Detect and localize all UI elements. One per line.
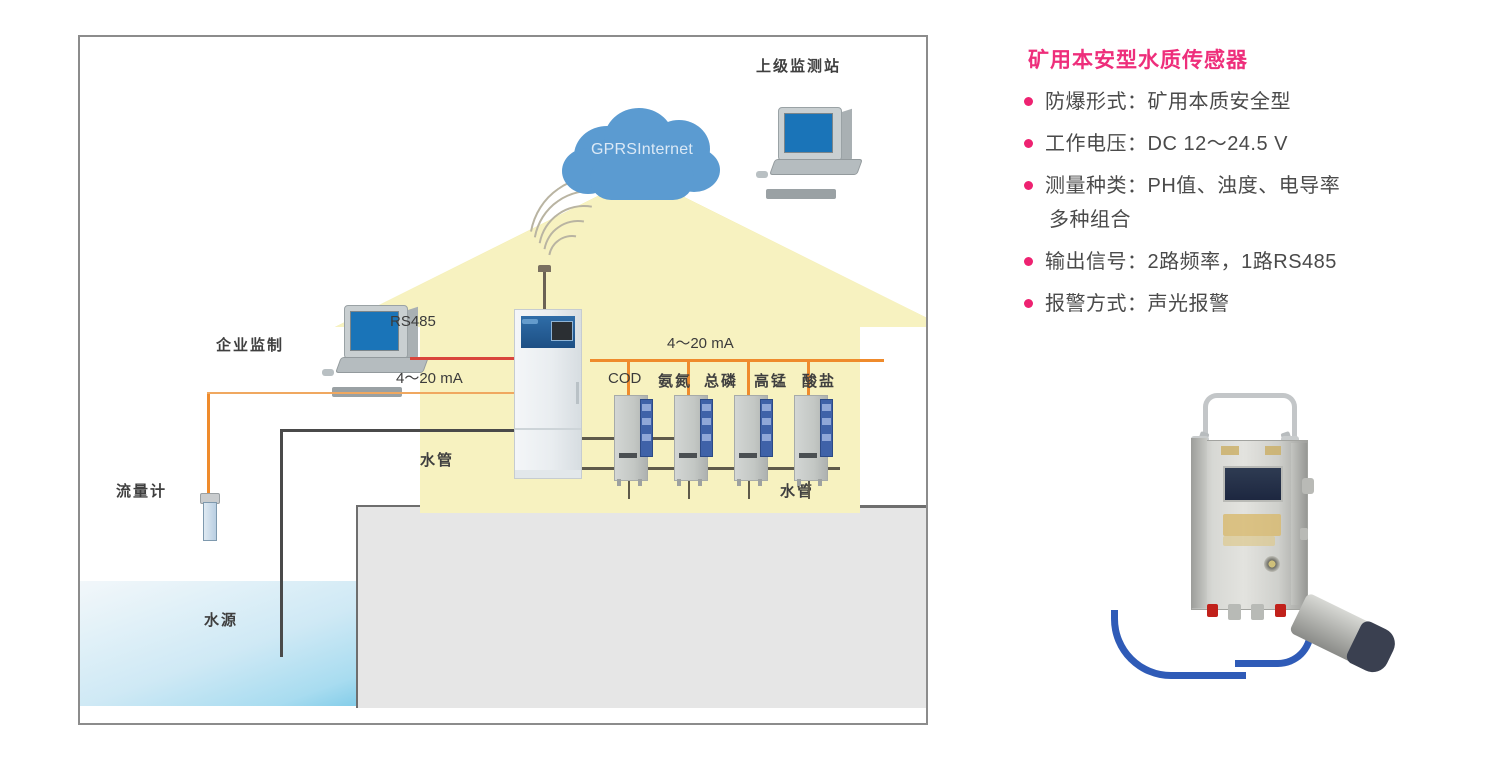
analyzer-rack [674, 395, 714, 485]
spec-item-continuation: 多种组合 [1049, 206, 1490, 235]
antenna-icon [543, 269, 546, 311]
enclosure-right-edge [1291, 443, 1307, 605]
spec-list-item: 防爆形式：矿用本质安全型 [1020, 88, 1490, 117]
intake-pipe-vertical [280, 429, 283, 657]
spec-item-text: 输出信号：2路频率，1路RS485 [1045, 248, 1337, 277]
spec-list-item: 输出信号：2路频率，1路RS485 [1020, 248, 1490, 277]
spec-item-text: 工作电压：DC 12～24.5 V [1045, 130, 1288, 159]
analog-signal-label-left: 4～20 mA [396, 367, 463, 388]
flowmeter-label: 流量计 [116, 480, 167, 501]
spec-item-text: 测量种类：PH值、浊度、电导率 [1045, 172, 1340, 201]
flowmeter-signal-run [207, 392, 517, 394]
spec-list-item: 测量种类：PH值、浊度、电导率 [1020, 172, 1490, 201]
system-diagram-frame: GPRSInternet 上级监测站 企业监制 RS485 4～20 mA 流量… [78, 35, 928, 725]
rs485-link-line [410, 357, 516, 360]
water-source-body [80, 581, 368, 706]
rack-drain [748, 481, 750, 499]
underground-structure [356, 505, 928, 708]
bullet-icon [1024, 299, 1033, 308]
water-source-label: 水源 [204, 609, 238, 630]
enterprise-monitor-label: 企业监制 [216, 334, 284, 355]
water-quality-probe [1288, 592, 1398, 677]
spec-list-item: 工作电压：DC 12～24.5 V [1020, 130, 1490, 159]
flowmeter-icon [200, 493, 218, 541]
enclosure-left-bevel [1191, 438, 1207, 608]
analyzer-label-ammonia: 氨氮 [658, 370, 692, 391]
spec-title: 矿用本安型水质传感器 [1028, 44, 1490, 74]
spec-list-item: 报警方式：声光报警 [1020, 290, 1490, 319]
rs485-label: RS485 [390, 313, 436, 330]
bullet-icon [1024, 181, 1033, 190]
rack-drain [628, 481, 630, 499]
system-diagram-canvas: GPRSInternet 上级监测站 企业监制 RS485 4～20 mA 流量… [80, 37, 926, 723]
analyzer-rack [794, 395, 834, 485]
analyzer-label-permanganate-2: 酸盐 [802, 370, 836, 391]
water-pipe-label-upper: 水管 [420, 449, 454, 470]
side-connector-bottom [1300, 528, 1308, 540]
analog-bus-line [590, 359, 884, 362]
spec-item-text: 防爆形式：矿用本质安全型 [1045, 88, 1291, 117]
analog-signal-label-top: 4～20 mA [667, 332, 734, 353]
spec-item-text: 报警方式：声光报警 [1045, 290, 1230, 319]
analyzer-label-cod: COD [608, 370, 641, 387]
rack-drain [688, 481, 690, 499]
product-photo [1095, 388, 1405, 668]
analyzer-rack [614, 395, 654, 485]
side-connector-top [1302, 478, 1314, 494]
brand-label [1223, 514, 1281, 536]
bullet-icon [1024, 257, 1033, 266]
nameplate-right [1265, 446, 1281, 455]
lcd-display [1223, 466, 1283, 502]
cloud-label: GPRSInternet [556, 141, 728, 159]
analyzer-label-permanganate-1: 高锰 [754, 370, 788, 391]
blue-sensor-cable [1111, 610, 1246, 679]
main-analyzer-cabinet [514, 309, 582, 479]
analyzer-label-phosphorus: 总磷 [704, 370, 738, 391]
product-spec-panel: 矿用本安型水质传感器 防爆形式：矿用本质安全型 工作电压：DC 12～24.5 … [1020, 44, 1490, 332]
antenna-head-icon [538, 265, 551, 272]
analyzer-rack [734, 395, 774, 485]
bullet-icon [1024, 139, 1033, 148]
analog-bus-drop [747, 359, 750, 399]
buzzer-grill-icon [1264, 556, 1280, 572]
rack-drain [808, 481, 810, 499]
bullet-icon [1024, 97, 1033, 106]
intake-pipe-horizontal [280, 429, 520, 432]
model-label [1223, 536, 1275, 546]
nameplate-left [1221, 446, 1239, 455]
flowmeter-signal-riser [207, 392, 210, 496]
upper-station-label: 上级监测站 [756, 55, 841, 76]
